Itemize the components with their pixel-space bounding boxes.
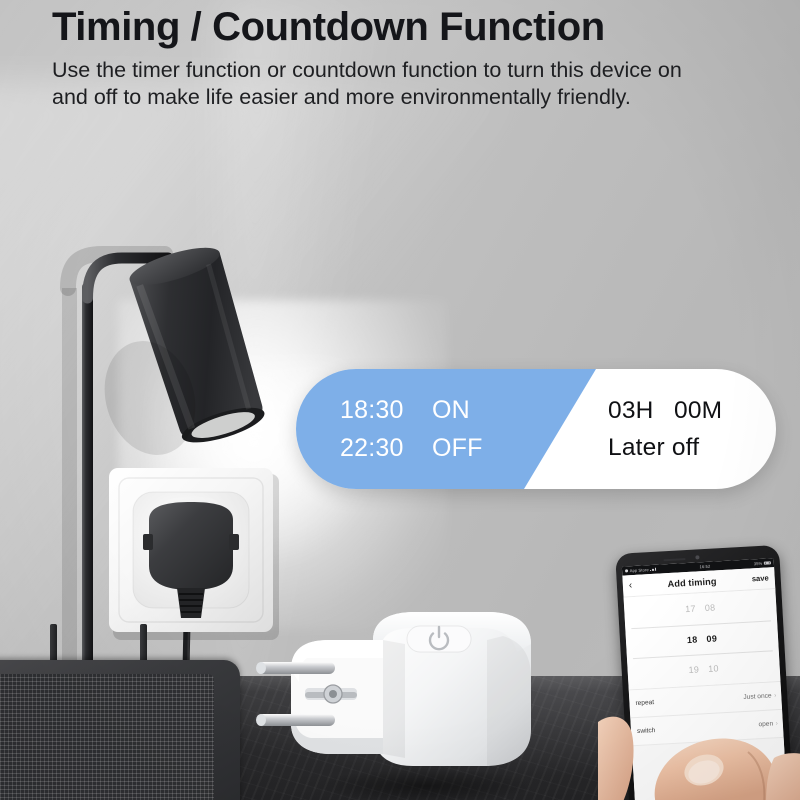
schedule-time-off: 22:30	[340, 434, 432, 463]
picker-hour: 17	[685, 604, 696, 615]
schedule-state-on: ON	[432, 396, 470, 425]
subheadline: Use the timer function or countdown func…	[52, 57, 712, 111]
status-battery-percent: 35%	[754, 561, 763, 566]
countdown-label-row: Later off	[608, 434, 776, 462]
schedule-state-off: OFF	[432, 434, 483, 463]
product-marketing-scene: App Store 16:52 35% ‹ Add timing save	[0, 0, 800, 800]
countdown-hours: 03H	[608, 397, 674, 425]
countdown-panel: 03H 00M Later off	[586, 369, 776, 489]
signal-bars-icon	[650, 568, 656, 572]
phone-camera-icon	[695, 555, 699, 559]
battery-icon	[764, 561, 771, 565]
chevron-left-icon[interactable]: ‹	[629, 581, 633, 591]
picker-hour: 19	[688, 665, 699, 676]
schedule-time-on: 18:30	[340, 396, 432, 425]
status-carrier: App Store	[630, 567, 649, 573]
picker-hour: 18	[687, 634, 698, 645]
smart-plug-device	[255, 596, 555, 800]
schedule-panel: 18:30 ON 22:30 OFF	[296, 369, 586, 489]
picker-minute: 10	[708, 664, 719, 675]
countdown-duration-row: 03H 00M	[608, 397, 776, 425]
hand-holding-phone	[598, 686, 800, 800]
countdown-minutes: 00M	[674, 397, 722, 425]
schedule-row-on: 18:30 ON	[340, 396, 586, 425]
time-picker[interactable]: 17 08 18 09 19 10	[624, 589, 781, 689]
phone-speaker	[663, 558, 685, 561]
picker-minute: 09	[706, 633, 717, 644]
page-title: Add timing	[667, 576, 716, 589]
status-bar-right: 35%	[754, 560, 771, 566]
picker-minute: 08	[705, 603, 716, 614]
schedule-row-off: 22:30 OFF	[340, 434, 586, 463]
office-chair	[0, 660, 240, 800]
countdown-label: Later off	[608, 434, 699, 462]
heading-block: Timing / Countdown Function Use the time…	[52, 2, 752, 111]
status-time: 16:52	[699, 564, 710, 570]
info-pill: 18:30 ON 22:30 OFF 03H 00M Later off	[296, 369, 776, 489]
save-button[interactable]: save	[752, 573, 769, 583]
status-dot-icon	[625, 569, 628, 572]
status-bar-left: App Store	[625, 567, 656, 574]
headline: Timing / Countdown Function	[52, 2, 752, 52]
